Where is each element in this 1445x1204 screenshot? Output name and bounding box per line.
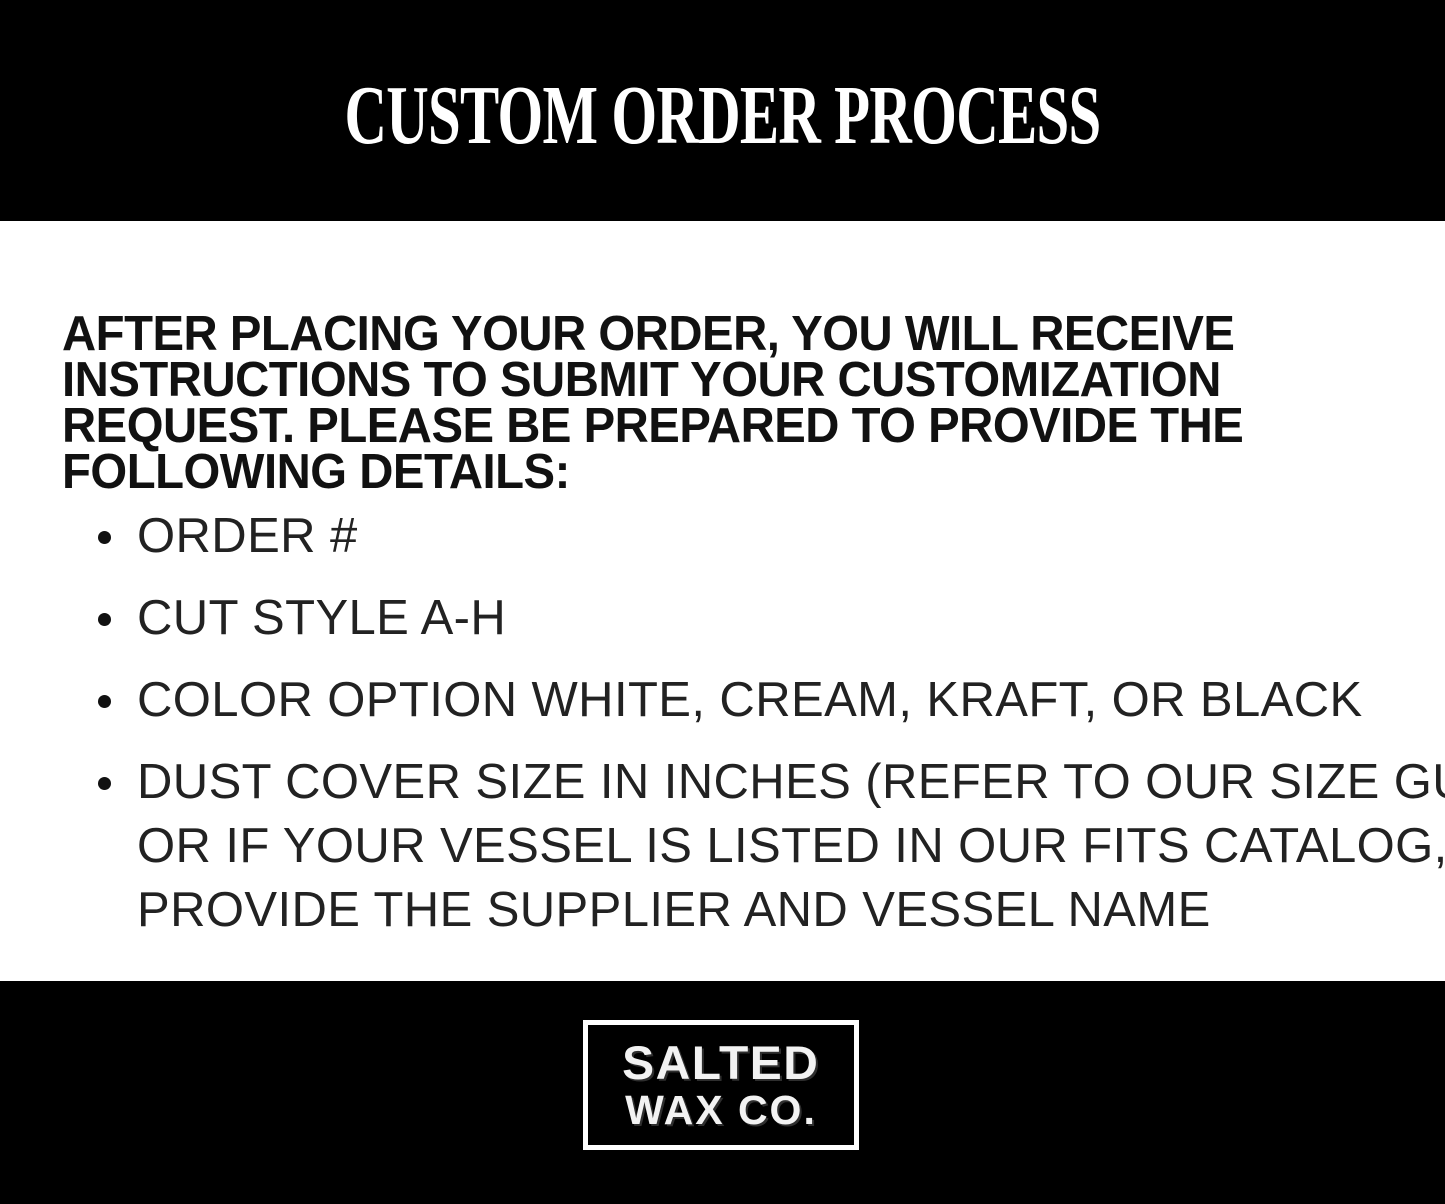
list-item: CUT STYLE A-H [90,586,1410,650]
list-item-text: ORDER # [137,504,1410,568]
list-item-line: PROVIDE THE SUPPLIER AND VESSEL NAME [137,878,1410,942]
list-item: COLOR OPTION WHITE, CREAM, KRAFT, OR BLA… [90,668,1410,732]
headline-block: AFTER PLACING YOUR ORDER, YOU WILL RECEI… [62,311,1278,495]
list-item-line: COLOR OPTION WHITE, CREAM, KRAFT, OR BLA… [137,668,1410,732]
list-item-text: DUST COVER SIZE IN INCHES (REFER TO OUR … [137,750,1410,942]
poster-canvas: CUSTOM ORDER PROCESS AFTER PLACING YOUR … [0,0,1445,1204]
brand-logo-line-1: SALTED [622,1039,819,1087]
brand-logo-line-2: WAX CO. [625,1088,817,1132]
bullet-dot-icon [98,613,111,626]
page-title: CUSTOM ORDER PROCESS [217,74,1229,158]
bottom-banner: SALTED WAX CO. [0,981,1445,1204]
list-item-line: OR IF YOUR VESSEL IS LISTED IN OUR FITS … [137,814,1410,878]
brand-logo: SALTED WAX CO. [583,1020,859,1150]
main-content: AFTER PLACING YOUR ORDER, YOU WILL RECEI… [0,221,1445,981]
bullet-dot-icon [98,531,111,544]
headline-line: FOLLOWING DETAILS: [62,449,1278,495]
brand-logo-inner: SALTED WAX CO. [593,1030,849,1140]
headline-line: AFTER PLACING YOUR ORDER, YOU WILL RECEI… [62,311,1278,357]
headline-line: INSTRUCTIONS TO SUBMIT YOUR CUSTOMIZATIO… [62,357,1278,403]
bullet-dot-icon [98,695,111,708]
headline-line: REQUEST. PLEASE BE PREPARED TO PROVIDE T… [62,403,1278,449]
list-item-text: COLOR OPTION WHITE, CREAM, KRAFT, OR BLA… [137,668,1410,732]
top-banner: CUSTOM ORDER PROCESS [0,0,1445,221]
requirements-list: ORDER # CUT STYLE A-H COLOR OPTION WHITE… [90,504,1410,942]
list-item: ORDER # [90,504,1410,568]
list-item: DUST COVER SIZE IN INCHES (REFER TO OUR … [90,750,1410,942]
list-item-text: CUT STYLE A-H [137,586,1410,650]
list-item-line: CUT STYLE A-H [137,586,1410,650]
bullet-dot-icon [98,777,111,790]
list-item-line: DUST COVER SIZE IN INCHES (REFER TO OUR … [137,750,1410,814]
list-item-line: ORDER # [137,504,1410,568]
